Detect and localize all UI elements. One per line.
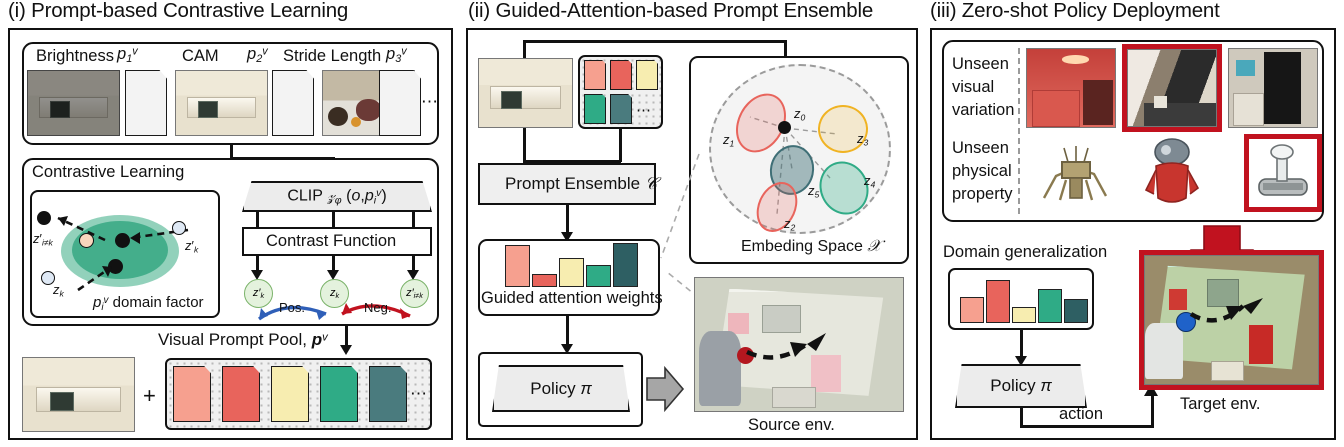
unseen-visual-image-3 [1228,48,1318,128]
domain-factor-label-stride: Stride Length [283,47,381,66]
scene-thumb-observation [478,58,573,128]
policy-block-iii: Policy π [955,364,1087,408]
embedding-label-z0: z0 [794,106,805,122]
visual-prompt-pool-label: Visual Prompt Pool, pv [158,330,328,350]
scene-thumb-base [22,357,135,432]
relation-arcs [240,295,440,325]
scene-thumb-brightness [27,70,120,136]
grid-prompt-3 [636,60,658,90]
grid-prompt-4 [584,94,606,124]
domain-factor-ellipsis: ⋯ [421,92,438,112]
relation-label-neg: Neg. [364,300,391,315]
weight-bar-2 [986,280,1010,323]
attention-bar-2 [532,274,557,287]
scatter-marker-zkprime [172,221,186,235]
attention-bar-5 [613,243,638,287]
prompt-symbol-1: p1v [117,45,138,65]
panel-i-title: (i) Prompt-based Contrastive Learning [8,0,348,23]
embedding-node-z0 [778,121,791,134]
embedding-space-caption: Embeding Space 𝒳 [741,238,881,256]
unseen-visual-label-line3: variation [952,101,1014,120]
prompt-symbol-2: p2v [247,45,268,65]
domain-factor-label-brightness: Brightness [36,47,114,66]
attention-weights-caption: Guided attention weights [481,289,663,308]
unseen-physical-label-line1: Unseen [952,139,1009,158]
prompt-card-2 [272,70,314,136]
embedding-label-z4: z4 [864,173,875,189]
prompt-ensemble-label: Prompt Ensemble 𝒞 [505,174,657,194]
source-env-caption: Source env. [748,416,835,435]
pool-arrowhead [340,345,352,355]
domain-factor-label-cam: CAM [182,47,219,66]
action-line-h [1020,425,1154,428]
unseen-visual-image-1 [1026,48,1116,128]
embedding-label-z3: z3 [857,131,868,147]
target-env-image [1144,255,1319,385]
pool-prompt-4 [320,366,358,422]
weights-to-policy [566,316,569,346]
pool-prompt-3 [271,366,309,422]
prompt-symbol-3: p3v [386,45,407,65]
policy-to-env-arrow [645,366,687,414]
scatter-label-zk-prime: z′k [185,238,198,254]
grid-prompt-5 [610,94,632,124]
relation-label-pos: Pos. [279,300,305,315]
obs-down-connector [523,128,526,163]
grid-prompt-2 [610,60,632,90]
robot-icon-humanoid [1130,136,1210,214]
weight-bar-4 [1038,289,1062,323]
grid-ellipsis: ⋯ [636,101,651,119]
embedding-label-z5: z5 [808,183,819,199]
clip-out-mid [332,212,335,228]
unseen-physical-label-line3: property [952,185,1013,204]
embedding-label-z1: z1 [723,132,734,148]
unseen-physical-label-line2: physical [952,162,1012,181]
pool-prompt-5 [369,366,407,422]
top-route-h [523,40,786,43]
scatter-marker-zk [41,271,55,285]
prompt-card-1 [125,70,167,136]
panel-iii-title: (iii) Zero-shot Policy Deployment [930,0,1220,23]
figure-root: (i) Prompt-based Contrastive Learning Br… [0,0,1344,447]
robot-icon-mobile-manipulator [1251,141,1315,205]
scatter-label-zk: zk [53,282,64,298]
action-label: action [1059,405,1103,424]
scatter-label-zineqk: z′i≠k [33,231,53,247]
clip-out-left [256,212,259,228]
prompt-card-3 [379,70,421,136]
unseen-visual-label-line1: Unseen [952,55,1009,74]
domain-factor-caption: piv domain factor [93,294,204,313]
grid-prompt-1 [584,60,606,90]
unseen-visual-image-2 [1127,49,1217,127]
panel-ii-title: (ii) Guided-Attention-based Prompt Ensem… [468,0,873,23]
weight-bar-1 [960,297,984,323]
weight-bar-3 [1012,307,1036,323]
policy-block: Policy π [492,365,630,412]
source-env-image [694,277,904,412]
weight-bar-5 [1064,299,1088,323]
embedding-label-z2: z2 [784,216,795,232]
scene-thumb-cam [175,70,268,136]
attention-bar-1 [505,245,530,287]
unseen-divider [1018,48,1020,214]
clip-encoder-block: CLIP 𝓏φ (o,piv) [242,181,432,212]
domain-generalization-label: Domain generalization [943,243,1107,262]
robot-icon-spider [1030,140,1120,212]
pool-prompt-2 [222,366,260,422]
pool-prompt-1 [173,366,211,422]
grid-down-connector [619,128,622,162]
pool-ellipsis: ⋯ [410,384,427,404]
target-env-caption: Target env. [1180,395,1260,414]
ensemble-to-weights [566,205,569,234]
attention-bar-4 [586,265,611,287]
weights-to-policy-iii [1020,330,1023,358]
contrast-function-label: Contrast Function [266,232,396,251]
clip-out-right [412,212,415,228]
unseen-visual-label-line2: visual [952,78,994,97]
contrastive-learning-title: Contrastive Learning [32,163,184,182]
attention-bar-3 [559,258,584,287]
plus-sign: + [143,383,156,409]
